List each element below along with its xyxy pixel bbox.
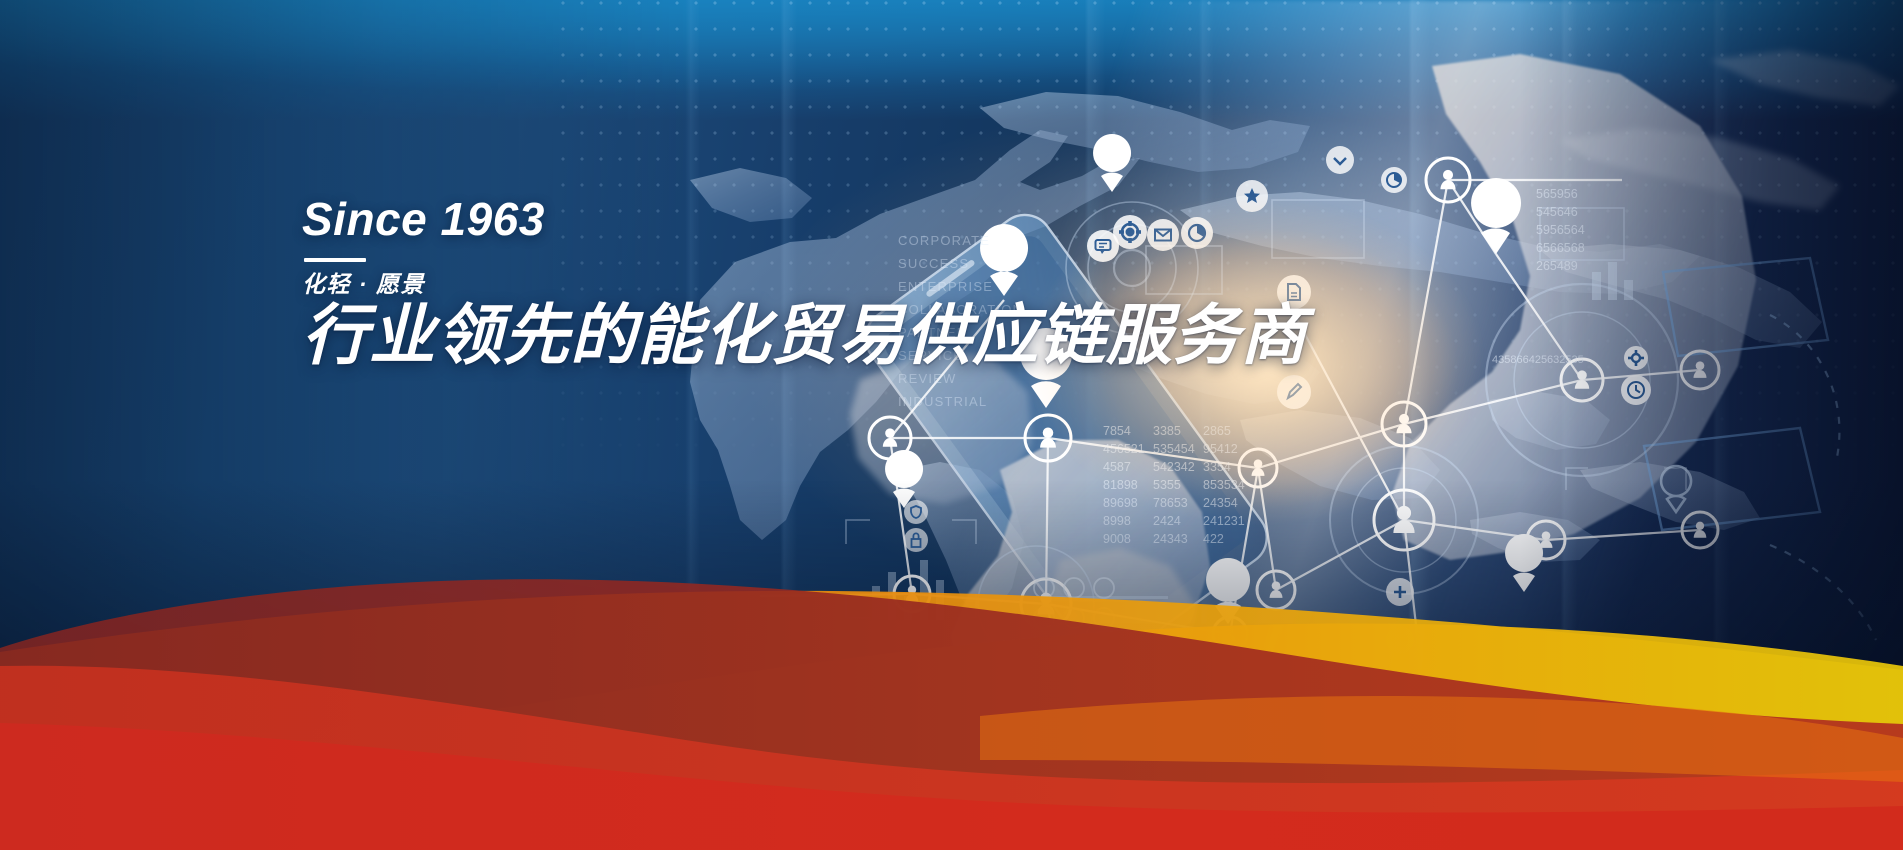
hero-banner: CORPORATE SUCCESS ENTERPRISE COLLABORATI… <box>0 0 1903 850</box>
headline-text: 行业领先的能化贸易供应链服务商 <box>302 301 1202 370</box>
divider-rule <box>304 258 366 262</box>
bottom-wave-graphics <box>0 520 1903 850</box>
hero-copy-block: Since 1963 化轻 · 愿景 行业领先的能化贸易供应链服务商 <box>302 196 1202 370</box>
since-label: Since 1963 <box>302 196 1202 242</box>
kicker-text: 化轻 · 愿景 <box>302 272 1202 297</box>
